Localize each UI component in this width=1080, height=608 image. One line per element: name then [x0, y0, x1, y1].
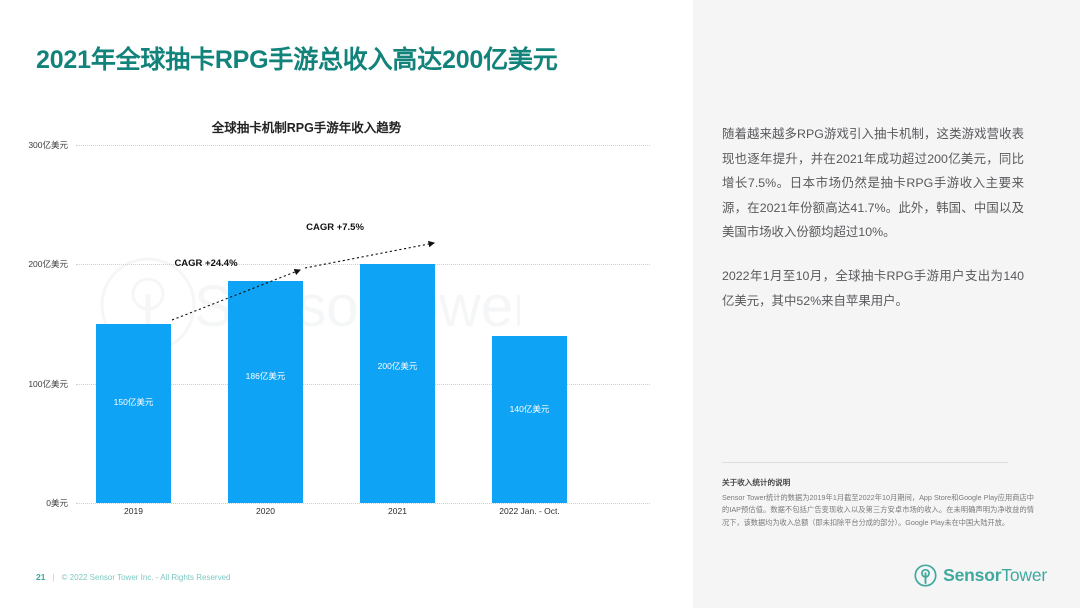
page-title: 2021年全球抽卡RPG手游总收入高达200亿美元 [36, 40, 558, 76]
cagr-annotation: CAGR +7.5% [306, 222, 364, 233]
footer-separator: | [52, 573, 54, 582]
y-axis-tick-label: 300亿美元 [4, 139, 68, 151]
x-axis-tick-label: 2020 [256, 506, 275, 516]
y-axis-tick-label: 0美元 [4, 497, 68, 509]
methodology-note: 关于收入统计的说明 Sensor Tower统计的数据为2019年1月截至202… [722, 462, 1034, 529]
note-body: Sensor Tower统计的数据为2019年1月截至2022年10月期间，Ap… [722, 492, 1034, 529]
chart-bar[interactable]: 140亿美元 [492, 336, 567, 503]
right-pane: 随着越来越多RPG游戏引入抽卡机制，这类游戏营收表现也逐年提升，并在2021年成… [693, 0, 1080, 608]
copyright-text: © 2022 Sensor Tower Inc. - All Rights Re… [62, 573, 231, 582]
brand-name-light: Tower [1001, 565, 1047, 585]
page-number: 21 [36, 572, 45, 582]
sensor-tower-wordmark: SensorTower [943, 565, 1047, 586]
bar-value-label: 140亿美元 [492, 403, 567, 415]
chart-plot-area: 0美元100亿美元200亿美元300亿美元150亿美元186亿美元200亿美元1… [0, 110, 693, 530]
x-axis-tick-label: 2021 [388, 506, 407, 516]
bar-value-label: 150亿美元 [96, 396, 171, 408]
chart-gridline [76, 503, 650, 504]
y-axis-tick-label: 200亿美元 [4, 258, 68, 270]
brand-name-bold: Sensor [943, 565, 1001, 585]
chart-bar[interactable]: 186亿美元 [228, 281, 303, 503]
note-title: 关于收入统计的说明 [722, 477, 1034, 488]
slide-root: 2021年全球抽卡RPG手游总收入高达200亿美元 全球抽卡机制RPG手游年收入… [0, 0, 1080, 608]
cagr-annotation: CAGR +24.4% [174, 258, 237, 269]
left-pane: 2021年全球抽卡RPG手游总收入高达200亿美元 全球抽卡机制RPG手游年收入… [0, 0, 693, 608]
chart-gridline [76, 145, 650, 146]
commentary-paragraph-2: 2022年1月至10月，全球抽卡RPG手游用户支出为140亿美元，其中52%来自… [722, 264, 1024, 313]
x-axis-tick-label: 2022 Jan. - Oct. [499, 506, 559, 516]
chart-bar[interactable]: 150亿美元 [96, 324, 171, 503]
note-divider [722, 462, 1008, 463]
bar-value-label: 200亿美元 [360, 360, 435, 372]
commentary-paragraph-1: 随着越来越多RPG游戏引入抽卡机制，这类游戏营收表现也逐年提升，并在2021年成… [722, 122, 1024, 245]
chart-bar[interactable]: 200亿美元 [360, 264, 435, 503]
footer: 21 | © 2022 Sensor Tower Inc. - All Righ… [36, 572, 230, 582]
sensor-tower-logo: SensorTower [914, 564, 1047, 587]
y-axis-tick-label: 100亿美元 [4, 378, 68, 390]
sensor-tower-mark-icon [914, 564, 937, 587]
bar-value-label: 186亿美元 [228, 370, 303, 382]
revenue-bar-chart: 全球抽卡机制RPG手游年收入趋势 SensorTower 0美元100亿美元20… [0, 110, 693, 530]
commentary-block: 随着越来越多RPG游戏引入抽卡机制，这类游戏营收表现也逐年提升，并在2021年成… [722, 122, 1024, 313]
x-axis-tick-label: 2019 [124, 506, 143, 516]
